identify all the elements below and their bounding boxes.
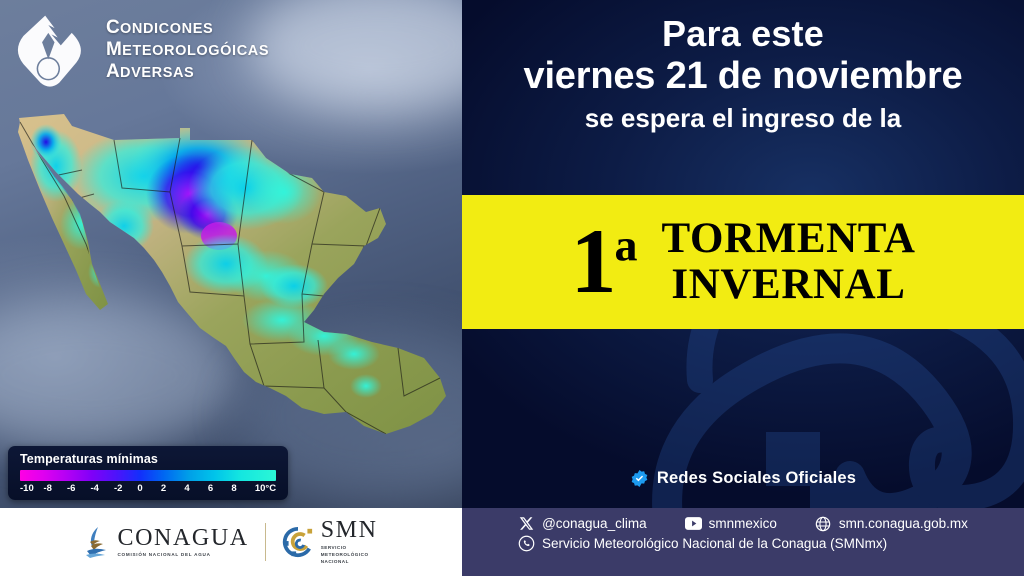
legend-tick-labels: -10 -8 -6 -4 -2 0 2 4 6 8 10°C [20, 483, 276, 494]
storm-title: TORMENTA INVERNAL [661, 216, 915, 309]
institutional-logos-footer: CONAGUA COMISIÓN NACIONAL DEL AGUA SMN S… [0, 508, 462, 576]
infographic-canvas: CONDICONES METEOROLOGÓICAS ADVERSAS [0, 0, 1024, 576]
social-row-bottom: Servicio Meteorológico Nacional de la Co… [518, 535, 887, 552]
legend-gradient-bar [20, 470, 276, 481]
social-x-label: @conagua_clima [542, 516, 647, 531]
conagua-subtitle: COMISIÓN NACIONAL DEL AGUA [117, 553, 248, 558]
smn-texts: SMN SERVICIO METEOROLÓGICO NACIONAL [321, 518, 378, 566]
cma-line-3: ADVERSAS [106, 61, 269, 83]
cma-logo-header: CONDICONES METEOROLOGÓICAS ADVERSAS [14, 10, 269, 90]
conagua-texts: CONAGUA COMISIÓN NACIONAL DEL AGUA [117, 526, 248, 558]
headline-line-3: se espera el ingreso de la [462, 102, 1024, 136]
storm-banner: 1a TORMENTA INVERNAL [462, 195, 1024, 329]
map-graphic [0, 96, 462, 456]
social-whatsapp-label: Servicio Meteorológico Nacional de la Co… [542, 536, 887, 551]
ordinal-digit: 1 [570, 210, 614, 312]
headline-block: Para este viernes 21 de noviembre se esp… [462, 14, 1024, 136]
legend-tick: -4 [90, 483, 113, 494]
social-whatsapp[interactable]: Servicio Meteorológico Nacional de la Co… [518, 535, 887, 552]
logo-divider [265, 523, 266, 561]
storm-title-line-1: TORMENTA [661, 216, 915, 262]
social-youtube-label: smnmexico [709, 516, 777, 531]
cma-wordmark: CONDICONES METEOROLOGÓICAS ADVERSAS [106, 17, 269, 83]
legend-title: Temperaturas mínimas [20, 452, 278, 466]
ordinal-suffix: a [614, 220, 635, 271]
message-panel: Para este viernes 21 de noviembre se esp… [462, 0, 1024, 576]
globe-icon [815, 515, 832, 532]
social-heading-label: Redes Sociales Oficiales [657, 469, 856, 488]
conagua-name: CONAGUA [117, 526, 248, 550]
social-youtube[interactable]: smnmexico [685, 515, 777, 532]
smn-subtitle: SERVICIO METEOROLÓGICO NACIONAL [321, 545, 378, 566]
temperature-legend: Temperaturas mínimas -10 -8 -6 -4 -2 0 2… [8, 446, 288, 500]
whatsapp-icon [518, 535, 535, 552]
cma-line-2: METEOROLOGÓICAS [106, 39, 269, 61]
headline-line-1: Para este [462, 14, 1024, 54]
map-panel: CONDICONES METEOROLOGÓICAS ADVERSAS [0, 0, 462, 576]
x-twitter-icon [518, 515, 535, 532]
social-website-label: smn.conagua.gob.mx [839, 516, 968, 531]
social-media-section: Redes Sociales Oficiales @conagua_clima [462, 478, 1024, 576]
storm-warning-icon [14, 10, 92, 90]
legend-tick: 0 [137, 483, 160, 494]
legend-tick: -8 [43, 483, 66, 494]
cloud-blob [250, 0, 462, 110]
smn-logo: SMN SERVICIO METEOROLÓGICO NACIONAL [282, 518, 378, 566]
conagua-logo: CONAGUA COMISIÓN NACIONAL DEL AGUA [84, 525, 248, 559]
social-website[interactable]: smn.conagua.gob.mx [815, 515, 968, 532]
social-heading: Redes Sociales Oficiales [462, 478, 1024, 508]
headline-line-2: viernes 21 de noviembre [462, 54, 1024, 98]
smn-spiral-icon [282, 525, 314, 559]
smn-name: SMN [321, 518, 378, 542]
legend-tick: 8 [231, 483, 254, 494]
legend-tick: -10 [20, 483, 43, 494]
social-accounts: @conagua_clima smnmexico smn [462, 508, 1024, 576]
verified-badge-icon [630, 469, 649, 488]
cma-line-1: CONDICONES [106, 17, 269, 39]
legend-tick: 4 [184, 483, 207, 494]
social-row-top: @conagua_clima smnmexico smn [518, 515, 968, 532]
ordinal-number: 1a [570, 222, 635, 301]
mexico-temperature-map [0, 96, 462, 456]
conagua-eagle-water-icon [84, 525, 110, 559]
legend-tick: -2 [114, 483, 137, 494]
social-x[interactable]: @conagua_clima [518, 515, 647, 532]
legend-tick: 10°C [255, 483, 276, 494]
legend-tick: 2 [161, 483, 184, 494]
youtube-icon [685, 515, 702, 532]
legend-tick: -6 [67, 483, 90, 494]
legend-tick: 6 [208, 483, 231, 494]
storm-title-line-2: INVERNAL [661, 262, 915, 308]
